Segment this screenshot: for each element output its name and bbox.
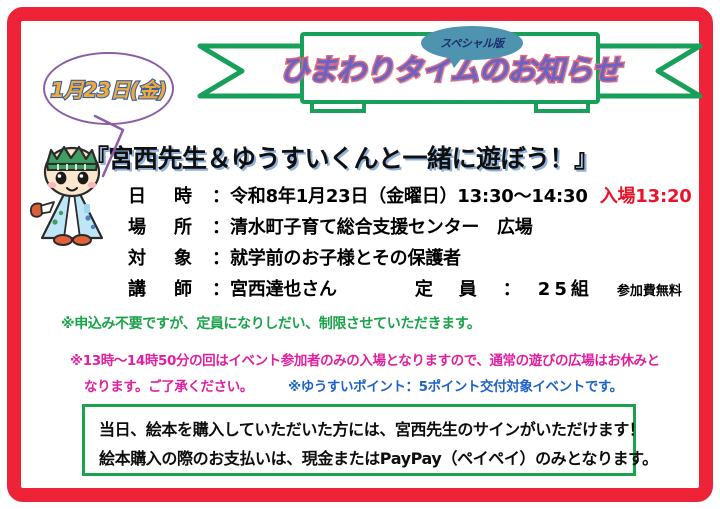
date-bubble-label: 1月23日(金): [43, 52, 174, 125]
detail-colon-datetime: ：: [212, 182, 230, 208]
detail-row-instructor: 講 師 ： 宮西達也さん 定 員 ： 25組 参加費無料: [128, 275, 688, 306]
detail-value-audience: 就学前のお子様とその保護者: [230, 244, 461, 270]
note-yuusui-point: ※ゆうすいポイント：5ポイント交付対象イベントです。: [288, 375, 623, 395]
detail-colon-venue: ：: [212, 213, 230, 239]
note-restricted-entry-line2: なります。ご了承ください。: [84, 375, 253, 395]
detail-colon-audience: ：: [212, 244, 230, 270]
detail-value-capacity: 定 員 ： 25組: [415, 275, 593, 301]
flyer-poster: ひまわりタイムのお知らせ スペシャル版 1月23日(金): [0, 0, 720, 509]
note-no-reservation: ※申込み不要ですが、定員になりしだい、制限させていただきます。: [61, 313, 481, 333]
purchase-info-line2: 絵本購入の際のお支払いは、現金またはPayPay（ペイペイ）のみとなります。: [99, 444, 619, 473]
detail-label-instructor: 講 師: [128, 275, 212, 301]
detail-row-audience: 対 象 ： 就学前のお子様とその保護者: [128, 244, 688, 275]
detail-value-datetime: 令和8年1月23日（金曜日）13:30～14:30: [230, 182, 588, 208]
detail-label-venue: 場 所: [128, 213, 212, 239]
page-title: 『宮西先生＆ゆうすいくんと一緒に遊ぼう！』: [84, 139, 684, 175]
date-speech-bubble: 1月23日(金): [43, 52, 174, 125]
event-details-list: 日 時 ： 令和8年1月23日（金曜日）13:30～14:30 入場13:20 …: [128, 182, 688, 306]
detail-value-venue: 清水町子育て総合支援センター 広場: [230, 213, 533, 239]
purchase-info-box: 当日、絵本を購入していただいた方には、宮西先生のサインがいただけます！ 絵本購入…: [82, 404, 636, 476]
note-restricted-entry-line1: ※13時～14時50分の回はイベント参加者のみの入場となりますので、通常の遊びの…: [70, 349, 660, 369]
detail-value-instructor: 宮西達也さん: [230, 275, 337, 301]
detail-colon-instructor: ：: [212, 275, 230, 301]
detail-row-venue: 場 所 ： 清水町子育て総合支援センター 広場: [128, 213, 688, 244]
detail-label-audience: 対 象: [128, 244, 212, 270]
detail-value-admission-time: 入場13:20: [600, 182, 692, 208]
detail-row-datetime: 日 時 ： 令和8年1月23日（金曜日）13:30～14:30 入場13:20: [128, 182, 688, 213]
badge-label: スペシャル版: [421, 26, 523, 60]
detail-label-datetime: 日 時: [128, 182, 212, 208]
special-edition-badge: スペシャル版: [421, 26, 523, 64]
detail-value-fee: 参加費無料: [617, 280, 682, 299]
purchase-info-line1: 当日、絵本を購入していただいた方には、宮西先生のサインがいただけます！: [99, 415, 619, 444]
